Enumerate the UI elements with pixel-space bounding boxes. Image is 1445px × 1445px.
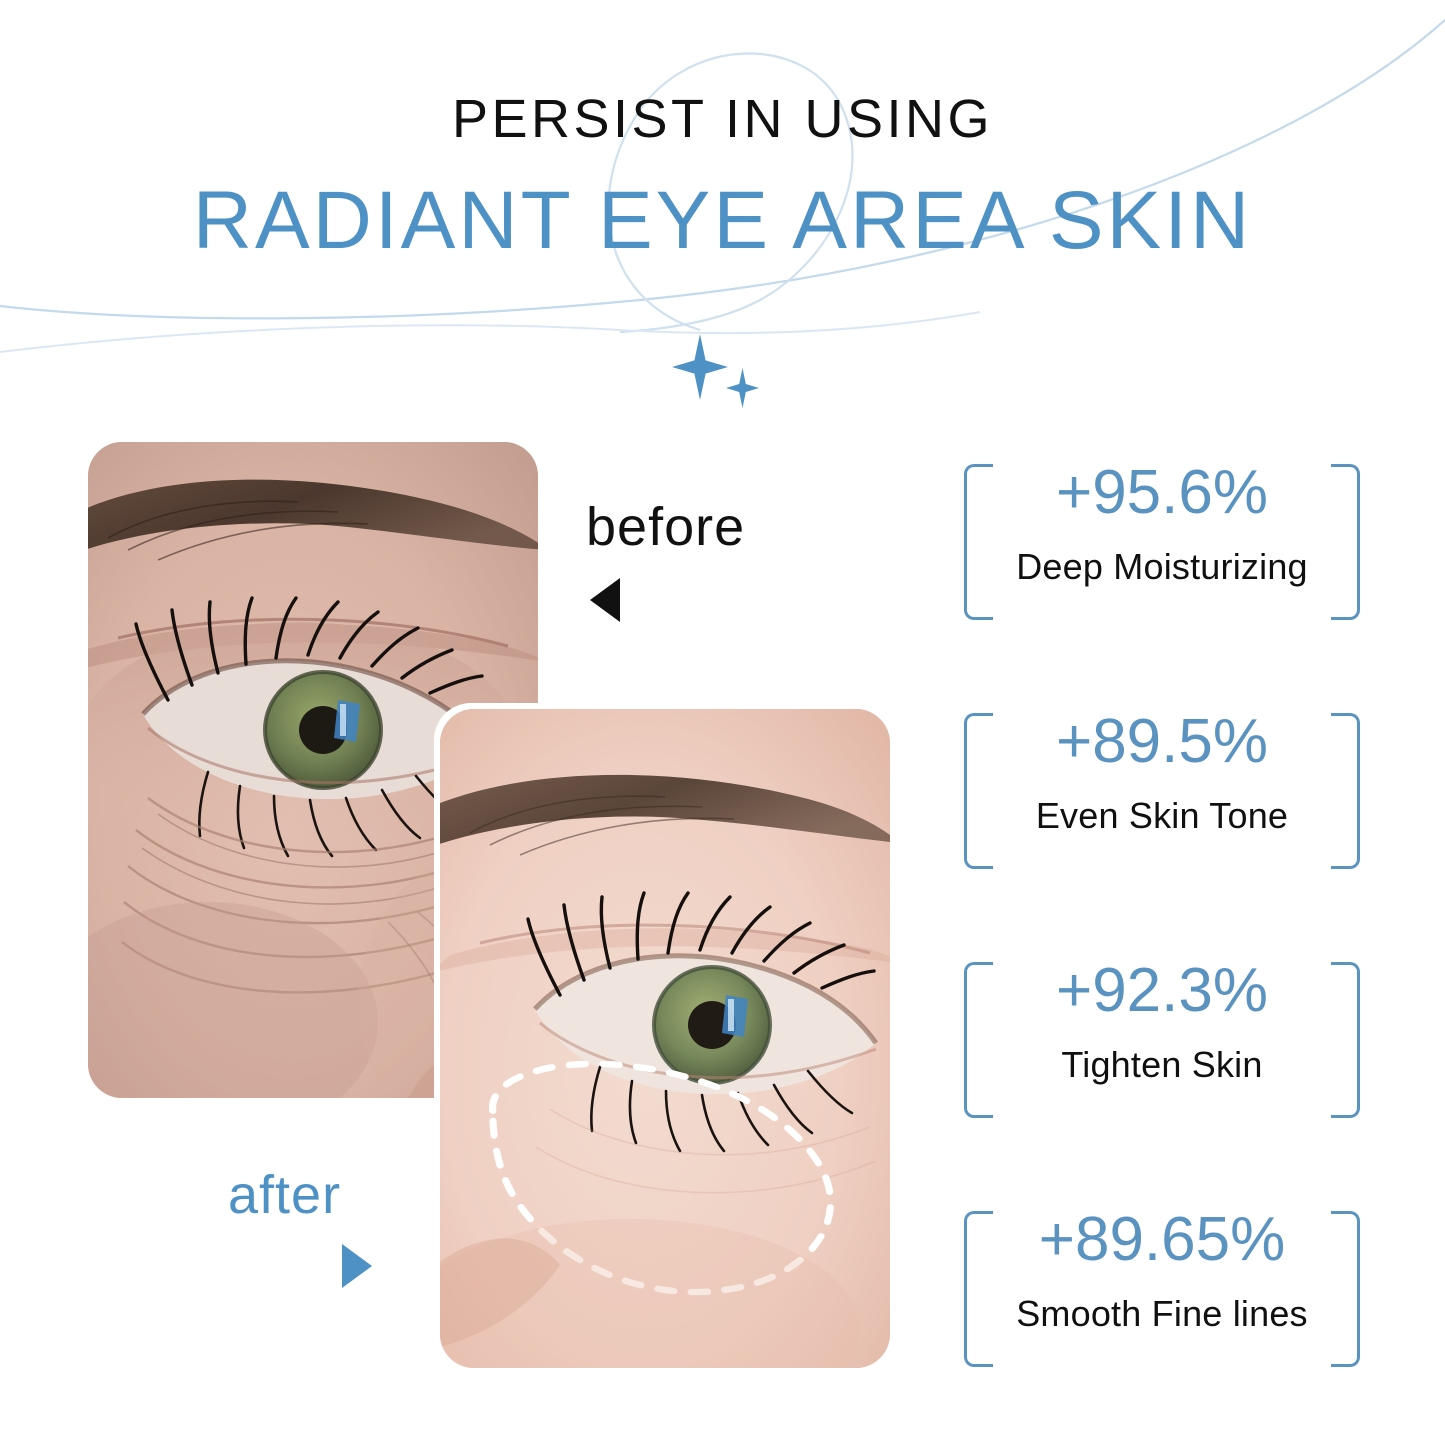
after-label-group: after <box>228 1168 372 1288</box>
header: PERSIST IN USING RADIANT EYE AREA SKIN <box>0 92 1445 262</box>
swoosh-curve-lower <box>0 312 980 352</box>
triangle-right-icon <box>342 1244 372 1288</box>
stat-value: +89.5% <box>952 711 1372 773</box>
stat-label-wrap: Deep Moisturizing <box>952 546 1372 587</box>
stat-block: +89.5% Even Skin Tone <box>952 701 1372 876</box>
page-subtitle: PERSIST IN USING <box>0 92 1445 146</box>
stat-label-wrap: Smooth Fine lines <box>952 1293 1372 1334</box>
before-label: before <box>586 500 745 554</box>
stat-label-wrap: Even Skin Tone <box>952 795 1372 836</box>
stat-label-wrap: Tighten Skin <box>952 1044 1372 1085</box>
stat-block: +89.65% Smooth Fine lines <box>952 1199 1372 1374</box>
sparkle-small-icon <box>726 368 759 408</box>
stats-list: +95.6% Deep Moisturizing +89.5% Even Ski… <box>952 452 1372 1445</box>
stat-value: +89.65% <box>952 1209 1372 1271</box>
stat-label: Tighten Skin <box>1053 1044 1270 1085</box>
stat-label: Deep Moisturizing <box>1008 546 1316 587</box>
page-title: RADIANT EYE AREA SKIN <box>0 180 1445 262</box>
stat-block: +95.6% Deep Moisturizing <box>952 452 1372 627</box>
stat-label: Smooth Fine lines <box>1008 1293 1316 1334</box>
after-label: after <box>228 1168 372 1222</box>
triangle-left-icon <box>590 578 620 622</box>
stat-label: Even Skin Tone <box>1028 795 1296 836</box>
sparkle-decoration <box>672 334 782 414</box>
stat-block: +92.3% Tighten Skin <box>952 950 1372 1125</box>
stat-value: +95.6% <box>952 462 1372 524</box>
promo-page: PERSIST IN USING RADIANT EYE AREA SKIN <box>0 0 1445 1445</box>
sparkle-large-icon <box>672 334 728 400</box>
before-label-group: before <box>586 500 745 622</box>
after-photo <box>440 709 890 1368</box>
stat-value: +92.3% <box>952 960 1372 1022</box>
